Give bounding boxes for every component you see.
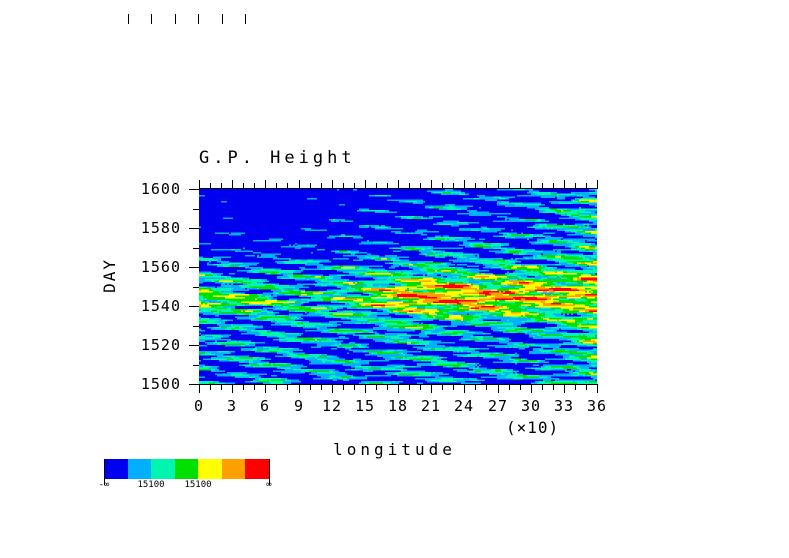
x-axis-minor-tick xyxy=(343,384,344,390)
x-axis-minor-tick xyxy=(354,384,355,390)
x-axis-minor-tick xyxy=(287,183,288,189)
colorbar-divider xyxy=(151,14,152,24)
x-axis-minor-tick xyxy=(310,183,311,189)
colorbar-divider xyxy=(222,14,223,24)
x-axis-major-tick-bottom xyxy=(365,384,366,393)
x-axis-major-tick-bottom xyxy=(232,384,233,393)
colorbar-swatch-light-blue xyxy=(128,459,152,479)
x-axis-major-tick-bottom xyxy=(332,384,333,393)
x-axis-minor-tick xyxy=(276,384,277,390)
x-axis-minor-tick xyxy=(409,183,410,189)
x-axis-tick-label: 6 xyxy=(260,397,270,415)
x-axis-major-tick-top xyxy=(332,180,333,189)
x-axis-minor-tick xyxy=(254,183,255,189)
x-axis-minor-tick xyxy=(321,183,322,189)
x-axis-tick-label: 18 xyxy=(388,397,408,415)
x-axis-major-tick-top xyxy=(498,180,499,189)
x-axis-minor-tick xyxy=(575,183,576,189)
colorbar-swatch-turquoise xyxy=(151,459,175,479)
x-axis-minor-tick xyxy=(210,183,211,189)
y-axis-minor-tick xyxy=(193,365,199,366)
y-axis-tick-label: 1500 xyxy=(89,375,181,393)
x-axis-minor-tick xyxy=(553,183,554,189)
x-axis-minor-tick xyxy=(343,183,344,189)
x-axis-minor-tick xyxy=(442,384,443,390)
x-axis-minor-tick xyxy=(420,183,421,189)
x-axis-minor-tick xyxy=(243,384,244,390)
y-axis-major-tick xyxy=(189,228,199,229)
x-axis-minor-tick xyxy=(387,183,388,189)
x-axis-major-tick-bottom xyxy=(498,384,499,393)
x-axis-tick-label: 27 xyxy=(488,397,508,415)
colorbar-swatch-green xyxy=(175,459,199,479)
x-axis-minor-tick xyxy=(520,384,521,390)
colorbar-tick-label: 15100 xyxy=(137,480,164,490)
x-axis-major-tick-bottom xyxy=(265,384,266,393)
x-axis-major-tick-bottom xyxy=(199,384,200,393)
colorbar-tick-label: 15100 xyxy=(184,480,211,490)
x-axis-tick-label: 0 xyxy=(194,397,204,415)
x-axis-minor-tick xyxy=(276,183,277,189)
x-axis-minor-tick xyxy=(542,183,543,189)
x-axis-minor-tick xyxy=(475,384,476,390)
colorbar-divider xyxy=(245,14,246,24)
colorbar-swatch-yellow xyxy=(198,459,222,479)
x-axis-minor-tick xyxy=(420,384,421,390)
plot-title: G.P. Height xyxy=(199,148,356,168)
colorbar-tick-label: ∞ xyxy=(266,480,271,490)
heatmap-plot-area xyxy=(199,189,597,384)
x-axis-minor-tick xyxy=(387,384,388,390)
y-axis-major-tick xyxy=(189,306,199,307)
x-axis-tick-label: 36 xyxy=(587,397,607,415)
y-axis-major-tick xyxy=(189,267,199,268)
x-axis-major-tick-top xyxy=(232,180,233,189)
x-axis-minor-tick xyxy=(409,384,410,390)
x-axis-minor-tick xyxy=(376,384,377,390)
x-axis-minor-tick xyxy=(442,183,443,189)
x-axis-minor-tick xyxy=(586,183,587,189)
x-axis-minor-tick xyxy=(509,183,510,189)
x-axis-minor-tick xyxy=(453,183,454,189)
x-axis-minor-tick xyxy=(210,384,211,390)
x-axis-tick-label: 12 xyxy=(322,397,342,415)
x-axis-title: longitude xyxy=(0,440,789,459)
colorbar-swatch-blue xyxy=(104,459,128,479)
x-axis-minor-tick xyxy=(486,384,487,390)
x-axis-tick-label: 9 xyxy=(294,397,304,415)
x-axis-tick-label: 30 xyxy=(521,397,541,415)
y-axis-tick-label: 1520 xyxy=(89,336,181,354)
colorbar-swatch-red xyxy=(245,459,269,479)
colorbar-tick-label: -∞ xyxy=(99,480,110,490)
x-axis-major-tick-bottom xyxy=(564,384,565,393)
y-axis-minor-tick xyxy=(193,209,199,210)
colorbar-swatch-orange xyxy=(222,459,246,479)
x-axis-minor-tick xyxy=(321,384,322,390)
x-axis-major-tick-top xyxy=(265,180,266,189)
colorbar-divider xyxy=(198,14,199,24)
colorbar xyxy=(104,459,269,479)
x-axis-minor-tick xyxy=(310,384,311,390)
x-axis-tick-label: 21 xyxy=(421,397,441,415)
y-axis-minor-tick xyxy=(193,287,199,288)
x-axis-major-tick-top xyxy=(199,180,200,189)
x-axis-major-tick-top xyxy=(398,180,399,189)
x-axis-tick-label: 33 xyxy=(554,397,574,415)
y-axis-tick-label: 1600 xyxy=(89,180,181,198)
x-axis-tick-label: 15 xyxy=(355,397,375,415)
y-axis-major-tick xyxy=(189,345,199,346)
x-axis-major-tick-bottom xyxy=(597,384,598,393)
x-axis-tick-label: 24 xyxy=(454,397,474,415)
x-axis-minor-tick xyxy=(221,183,222,189)
x-axis-minor-tick xyxy=(575,384,576,390)
x-axis-major-tick-bottom xyxy=(431,384,432,393)
x-axis-minor-tick xyxy=(520,183,521,189)
colorbar-divider xyxy=(175,14,176,24)
x-axis-major-tick-bottom xyxy=(531,384,532,393)
x-axis-major-tick-top xyxy=(564,180,565,189)
x-axis-minor-tick xyxy=(354,183,355,189)
x-axis-tick-label: 3 xyxy=(227,397,237,415)
x-axis-minor-tick xyxy=(509,384,510,390)
x-axis-major-tick-top xyxy=(431,180,432,189)
x-axis-minor-tick xyxy=(542,384,543,390)
x-axis-minor-tick xyxy=(486,183,487,189)
colorbar-divider xyxy=(128,14,129,24)
y-axis-title: DAY xyxy=(100,258,119,293)
x-axis-minor-tick xyxy=(376,183,377,189)
x-axis-minor-tick xyxy=(221,384,222,390)
y-axis-major-tick xyxy=(189,189,199,190)
x-axis-major-tick-bottom xyxy=(299,384,300,393)
x-axis-minor-tick xyxy=(243,183,244,189)
y-axis-minor-tick xyxy=(193,326,199,327)
x-axis-major-tick-top xyxy=(365,180,366,189)
x-axis-major-tick-bottom xyxy=(398,384,399,393)
y-axis-tick-label: 1540 xyxy=(89,297,181,315)
x-axis-major-tick-bottom xyxy=(464,384,465,393)
heatmap-raster xyxy=(199,189,597,384)
y-axis-major-tick xyxy=(189,384,199,385)
x-axis-minor-tick xyxy=(287,384,288,390)
x-axis-minor-tick xyxy=(586,384,587,390)
x-axis-minor-tick xyxy=(254,384,255,390)
y-axis-tick-label: 1580 xyxy=(89,219,181,237)
x-axis-major-tick-top xyxy=(299,180,300,189)
x-axis-minor-tick xyxy=(553,384,554,390)
x-axis-major-tick-top xyxy=(597,180,598,189)
y-axis-minor-tick xyxy=(193,248,199,249)
x-axis-major-tick-top xyxy=(464,180,465,189)
x-axis-multiplier-label: (×10) xyxy=(506,418,559,437)
x-axis-minor-tick xyxy=(475,183,476,189)
x-axis-major-tick-top xyxy=(531,180,532,189)
x-axis-minor-tick xyxy=(453,384,454,390)
